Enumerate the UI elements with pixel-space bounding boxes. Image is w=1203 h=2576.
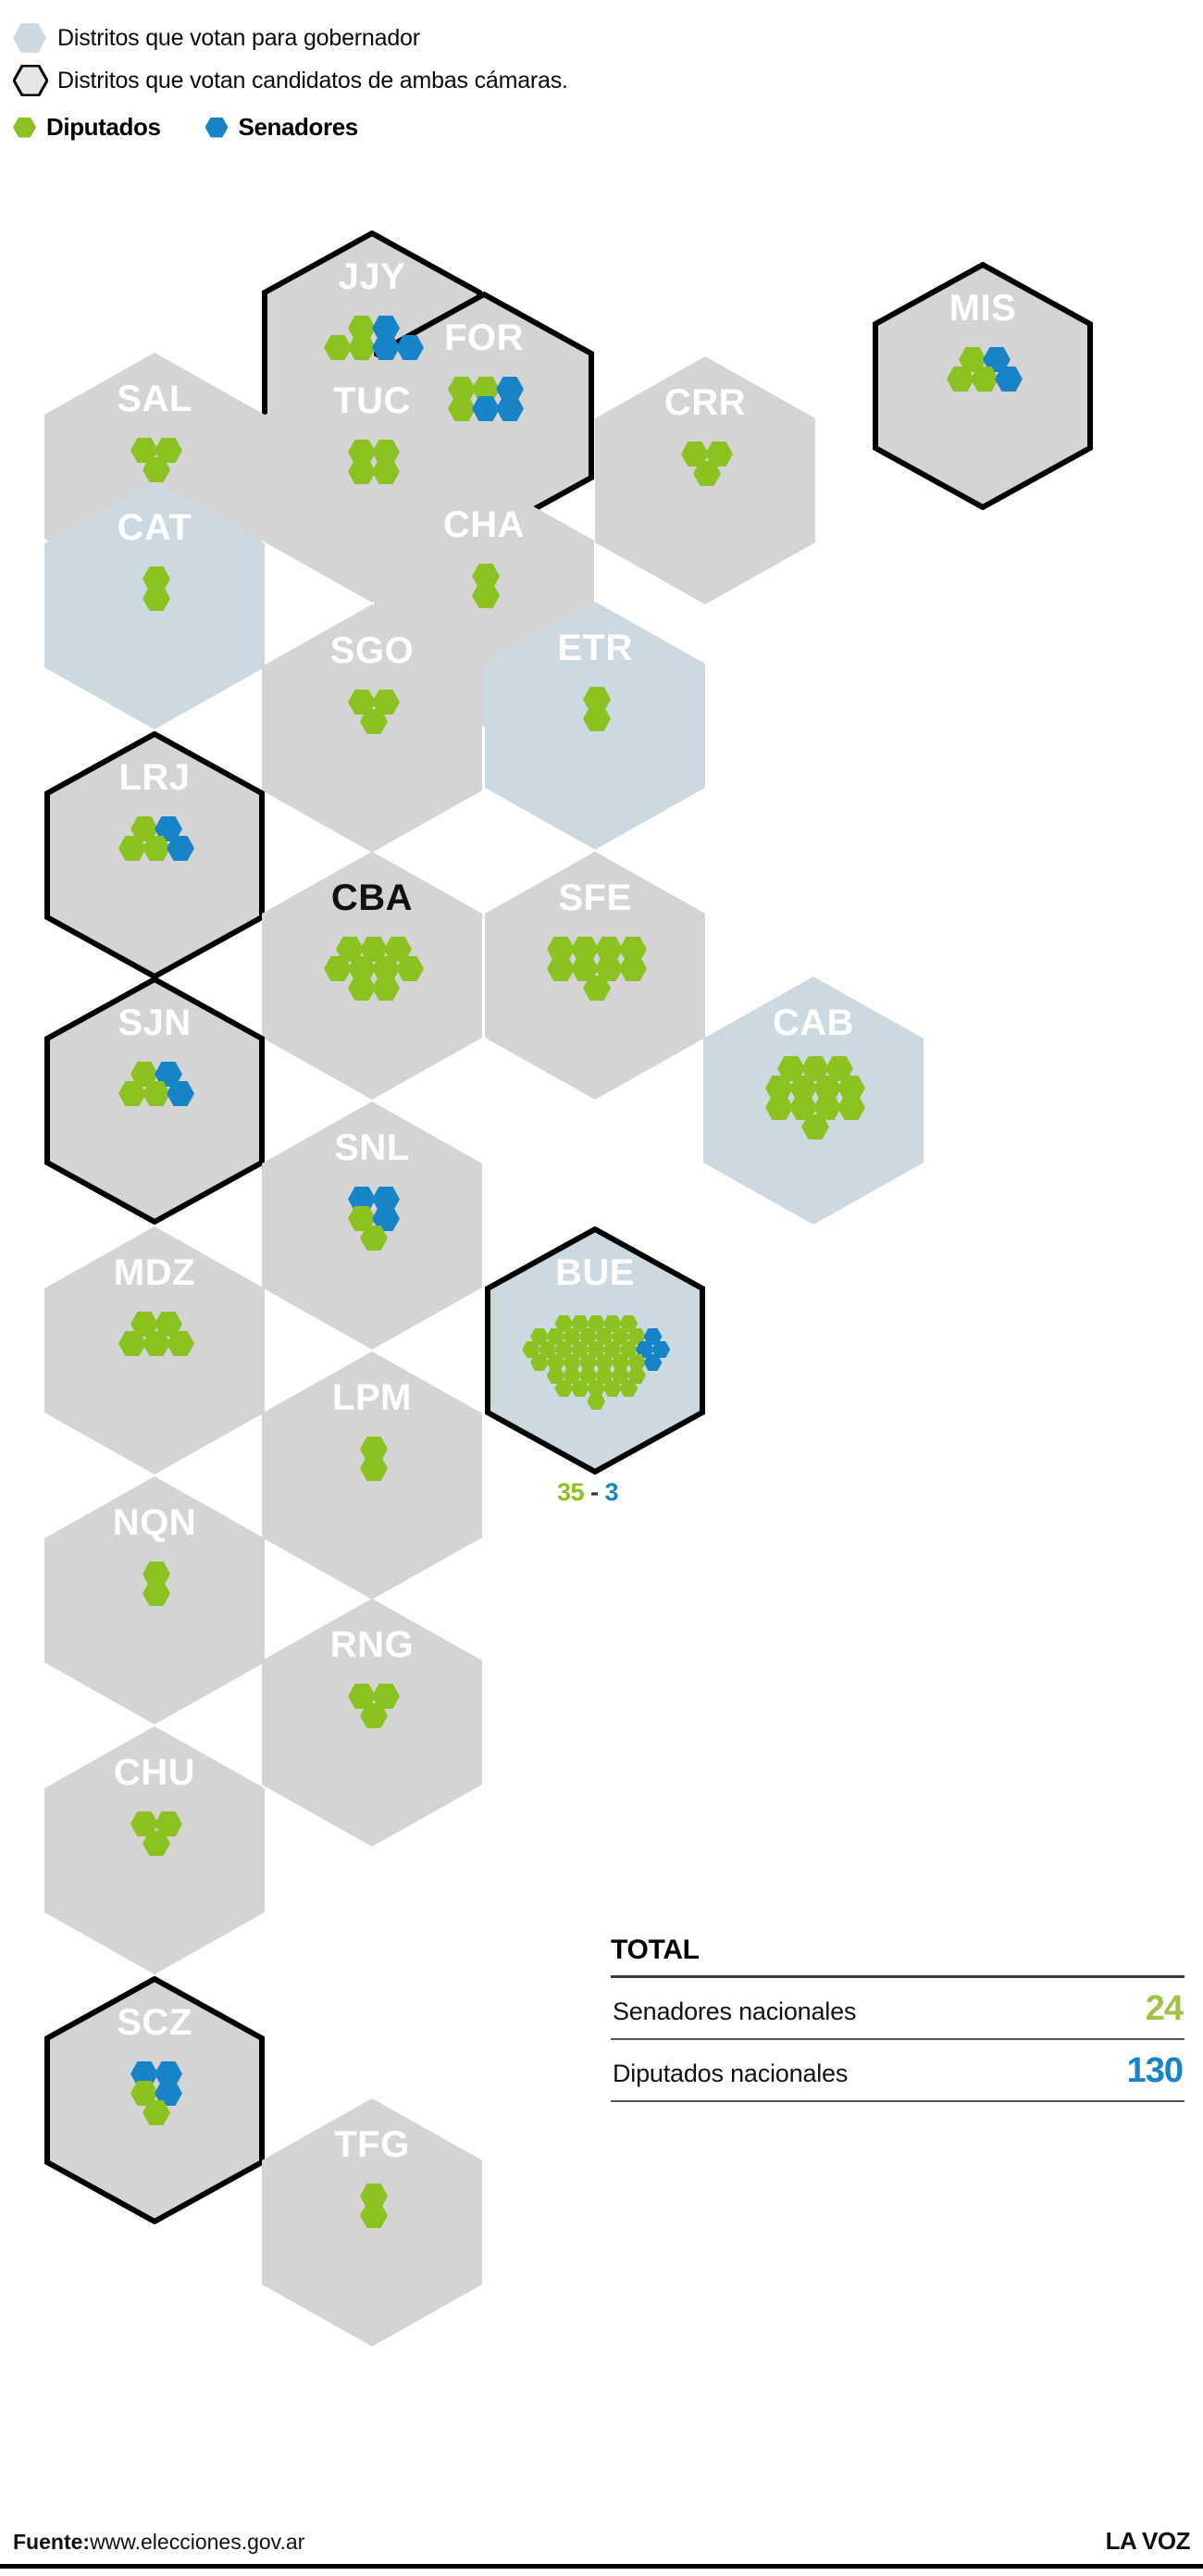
district-seat-dots xyxy=(117,2061,192,2145)
district-seat-dots xyxy=(334,1187,410,1270)
district-code-label: TUC xyxy=(262,380,482,422)
district-seat-dots xyxy=(346,2184,398,2247)
district-code-label: CHU xyxy=(44,1752,265,1794)
district-seat-dots xyxy=(129,1562,180,1625)
district-code-label: MDZ xyxy=(44,1252,265,1294)
diputado-hex-dot xyxy=(348,459,376,484)
district-hex-sfe[interactable]: SFE xyxy=(485,852,705,1100)
diputado-hex-dot xyxy=(547,956,575,981)
district-hex-nqn[interactable]: NQN xyxy=(44,1476,265,1724)
district-seat-dots xyxy=(310,937,434,1020)
legend-row-both-chambers-label: Distritos que votan candidatos de ambas … xyxy=(57,68,568,94)
total-row-senadores-label: Senadores nacionales xyxy=(613,1997,856,2026)
footer-source: Fuente:www.elecciones.gov.ar xyxy=(13,2530,304,2555)
district-seat-dots xyxy=(458,564,510,628)
bue-seat-count-annotation: 35 - 3 xyxy=(557,1478,618,1507)
diputado-hex-dot xyxy=(765,1095,793,1120)
district-code-label: ETR xyxy=(485,628,705,669)
legend-key-diputados-label: Diputados xyxy=(46,113,161,142)
legend-row-governor: Distritos que votan para gobernador xyxy=(13,19,1188,57)
district-seat-dots xyxy=(105,1062,205,1126)
district-code-label: CAB xyxy=(703,1002,924,1044)
district-code-label: CBA xyxy=(262,877,482,919)
district-hex-sgo[interactable]: SGO xyxy=(262,604,482,852)
legend-series-keys: Diputados Senadores xyxy=(13,113,1188,142)
total-row-senadores: Senadores nacionales 24 xyxy=(611,1978,1184,2038)
footer: Fuente:www.elecciones.gov.ar LA VOZ xyxy=(0,2493,1203,2576)
footer-rule xyxy=(0,2564,1203,2569)
diputado-hex-dot xyxy=(472,583,500,608)
district-code-label: BUE xyxy=(485,1252,705,1294)
district-hex-rng[interactable]: RNG xyxy=(262,1599,482,1847)
district-seat-dots xyxy=(751,1056,875,1159)
bue-count-separator: - xyxy=(584,1478,605,1506)
district-code-label: MIS xyxy=(873,288,1093,330)
district-code-label: NQN xyxy=(44,1502,265,1544)
footer-brand: LA VOZ xyxy=(1106,2527,1190,2556)
district-hex-lrj[interactable]: LRJ xyxy=(44,731,265,979)
district-seat-dots xyxy=(346,1437,398,1500)
district-seat-dots xyxy=(105,1312,205,1375)
total-title: TOTAL xyxy=(611,1935,1184,1966)
district-code-label: FOR xyxy=(374,317,594,359)
district-hex-cab[interactable]: CAB xyxy=(703,977,924,1225)
district-code-label: SNL xyxy=(262,1127,482,1169)
footer-source-label: Fuente: xyxy=(13,2530,90,2554)
total-row-diputados: Diputados nacionales 130 xyxy=(611,2040,1184,2100)
diputado-hex-dot xyxy=(348,335,376,360)
district-code-label: CHA xyxy=(374,504,594,546)
district-hex-chu[interactable]: CHU xyxy=(44,1726,265,1974)
district-hex-etr[interactable]: ETR xyxy=(485,602,705,850)
district-code-label: LPM xyxy=(262,1377,482,1419)
legend-key-diputados: Diputados xyxy=(13,113,161,142)
district-hex-bue[interactable]: BUE xyxy=(485,1226,705,1475)
district-seat-dots xyxy=(129,566,180,630)
diputado-hex-dot xyxy=(837,1095,865,1120)
district-hex-crr[interactable]: CRR xyxy=(595,356,815,604)
diputado-hex-dot xyxy=(583,706,611,731)
district-hex-cat[interactable]: CAT xyxy=(44,481,265,729)
hexagon-black-outline-icon xyxy=(13,65,48,96)
district-hex-lpm[interactable]: LPM xyxy=(262,1351,482,1599)
legend-key-senadores: Senadores xyxy=(205,113,358,142)
total-row-senadores-value: 24 xyxy=(1146,1989,1183,2029)
district-code-label: LRJ xyxy=(44,757,265,799)
diputado-hex-dot xyxy=(143,1581,170,1606)
district-seat-dots xyxy=(513,1315,677,1423)
district-hex-scz[interactable]: SCZ xyxy=(44,1976,265,2224)
district-seat-dots xyxy=(334,690,410,753)
district-seat-dots xyxy=(533,937,657,1020)
hexagon-green-dot-icon xyxy=(13,118,36,138)
district-seat-dots xyxy=(334,1684,410,1748)
hexagon-cartogram: JJYSALFORMISTUCCRRCATCHASGOETRLRJCBASJNS… xyxy=(0,236,1203,2022)
total-summary-table: TOTAL Senadores nacionales 24 Diputados … xyxy=(611,1935,1184,2102)
total-bottom-divider xyxy=(611,2100,1184,2102)
diputado-hex-dot xyxy=(619,956,647,981)
district-code-label: SGO xyxy=(262,630,482,672)
district-code-label: CAT xyxy=(44,507,265,549)
district-hex-mis[interactable]: MIS xyxy=(873,262,1093,510)
total-row-diputados-value: 130 xyxy=(1127,2051,1183,2091)
legend-row-governor-label: Distritos que votan para gobernador xyxy=(57,25,420,52)
district-hex-tfg[interactable]: TFG xyxy=(262,2098,482,2346)
district-code-label: TFG xyxy=(262,2124,482,2166)
senador-hex-dot xyxy=(496,396,524,421)
district-code-label: SAL xyxy=(44,379,265,420)
bue-diputados-count: 35 xyxy=(557,1478,584,1506)
district-code-label: SCZ xyxy=(44,2002,265,2044)
district-seat-dots xyxy=(667,442,743,505)
district-code-label: RNG xyxy=(262,1624,482,1666)
legend-row-both-chambers: Distritos que votan candidatos de ambas … xyxy=(13,61,1188,100)
district-seat-dots xyxy=(569,687,621,751)
hexagon-lightblue-filled-icon xyxy=(13,23,46,53)
district-hex-sjn[interactable]: SJN xyxy=(44,977,265,1225)
diputado-hex-dot xyxy=(143,586,170,611)
diputado-hex-dot xyxy=(324,335,352,360)
district-seat-dots xyxy=(117,1811,192,1875)
diputado-hex-dot xyxy=(372,976,400,1001)
diputado-hex-dot xyxy=(360,1456,388,1481)
diputado-hex-dot xyxy=(372,459,400,484)
district-seat-dots xyxy=(105,816,205,880)
hexagon-blue-dot-icon xyxy=(205,118,229,138)
district-code-label: SJN xyxy=(44,1002,265,1044)
district-code-label: CRR xyxy=(595,382,815,424)
district-code-label: JJY xyxy=(262,256,482,298)
legend: Distritos que votan para gobernador Dist… xyxy=(13,19,1188,142)
district-seat-dots xyxy=(933,347,1033,411)
district-hex-cba[interactable]: CBA xyxy=(262,852,482,1100)
diputado-hex-dot xyxy=(348,976,376,1001)
district-code-label: SFE xyxy=(485,877,705,919)
total-row-diputados-label: Diputados nacionales xyxy=(613,2060,848,2088)
district-hex-mdz[interactable]: MDZ xyxy=(44,1226,265,1475)
diputado-hex-dot xyxy=(360,2203,388,2228)
diputado-hex-dot xyxy=(587,1393,605,1410)
district-hex-snl[interactable]: SNL xyxy=(262,1101,482,1350)
legend-key-senadores-label: Senadores xyxy=(239,113,358,142)
district-seat-dots xyxy=(117,438,192,502)
footer-source-url: www.elecciones.gov.ar xyxy=(90,2530,304,2554)
bue-senadores-count: 3 xyxy=(605,1478,619,1506)
